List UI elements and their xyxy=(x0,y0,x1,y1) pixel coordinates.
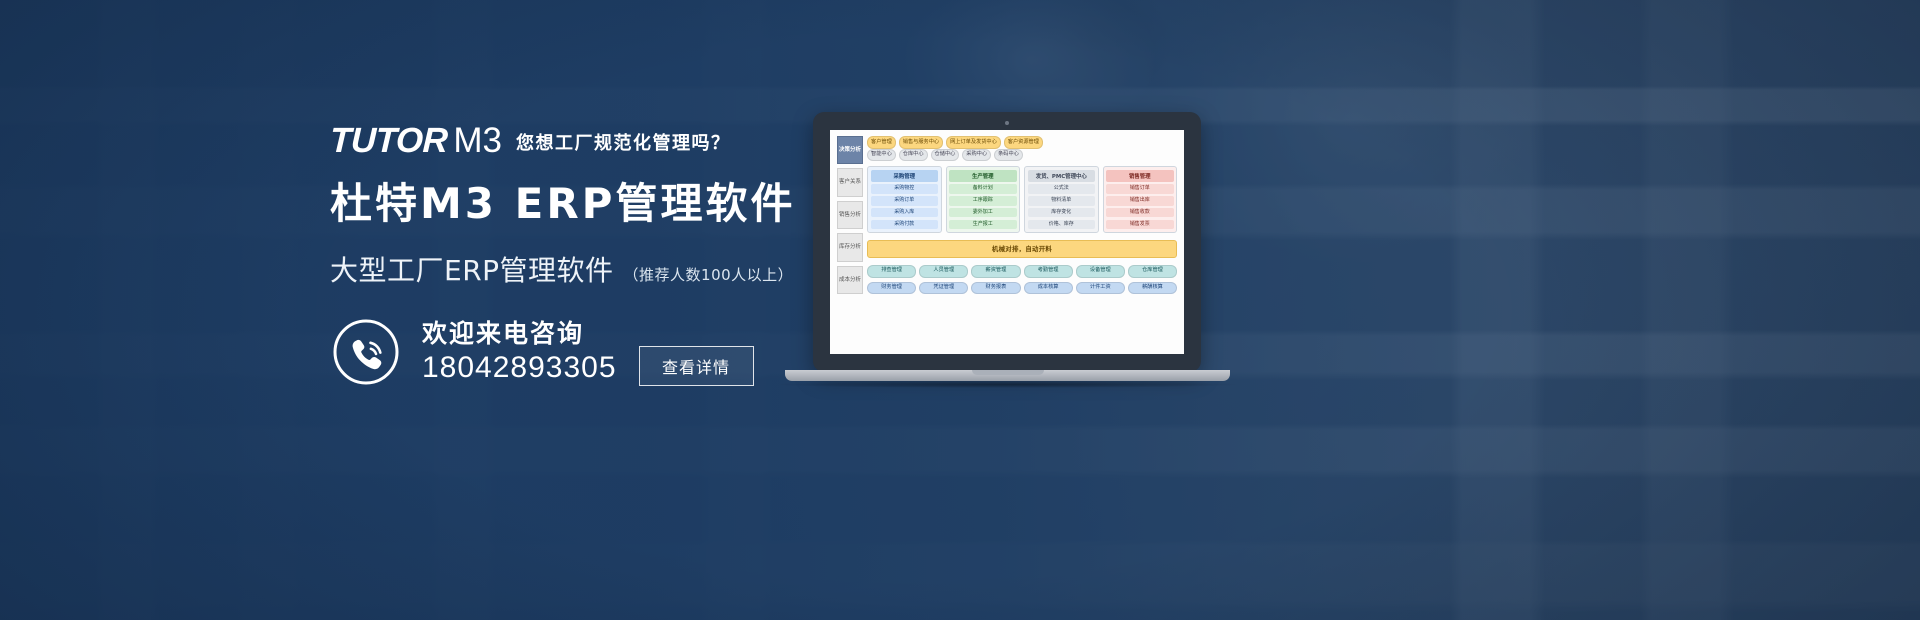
erp-column-item-2-1[interactable]: 物料清单 xyxy=(1028,196,1096,205)
erp-bottom-chip-1-1[interactable]: 凭证管理 xyxy=(919,282,968,295)
brand-tagline: 您想工厂规范化管理吗？ xyxy=(516,129,731,158)
logo-text-m3: M3 xyxy=(453,123,502,158)
erp-column-item-2-2[interactable]: 库存变化 xyxy=(1028,208,1096,217)
hero-subtitle: 大型工厂ERP管理软件 （推荐人数100人以上） xyxy=(330,249,850,289)
erp-top-row-1: 智能中心仓库中心仓储中心采购中心条码中心 xyxy=(867,149,1177,162)
erp-column-item-3-2[interactable]: 销售收款 xyxy=(1106,208,1174,217)
erp-chip-1-2[interactable]: 仓储中心 xyxy=(931,149,960,162)
erp-bottom-chip-0-4[interactable]: 设备管理 xyxy=(1076,265,1125,278)
erp-bottom-rows: 排查管理人员管理薪资管理考勤管理设备管理仓库管理财务管理凭证管理财务报表成本核算… xyxy=(867,261,1177,294)
erp-column-item-3-0[interactable]: 销售订单 xyxy=(1106,184,1174,193)
erp-column-item-1-1[interactable]: 工序跟踪 xyxy=(949,196,1017,205)
laptop-trackpad-notch xyxy=(972,370,1044,375)
logo-text-tutor: TUTOR xyxy=(329,123,448,158)
erp-chip-1-0[interactable]: 智能中心 xyxy=(867,149,896,162)
laptop-lid: 决策分析客户关系销售分析库存分析成本分析 客户管理销售与服务中心网上订单及发货中… xyxy=(813,112,1201,372)
erp-bottom-chip-0-1[interactable]: 人员管理 xyxy=(919,265,968,278)
page-title: 杜特M3 ERP管理软件 xyxy=(330,180,850,227)
erp-chip-0-2[interactable]: 网上订单及发货中心 xyxy=(946,136,1001,149)
erp-highlight-banner: 机械对排，自动开料 xyxy=(867,240,1177,258)
erp-side-cell-1[interactable]: 客户关系 xyxy=(837,168,863,196)
erp-side-rail: 决策分析客户关系销售分析库存分析成本分析 xyxy=(837,136,863,294)
erp-column-head-2: 发货、PMC管理中心 xyxy=(1028,170,1096,182)
erp-bottom-chip-1-3[interactable]: 成本核算 xyxy=(1024,282,1073,295)
erp-bottom-chip-0-0[interactable]: 排查管理 xyxy=(867,265,916,278)
laptop-mockup: 决策分析客户关系销售分析库存分析成本分析 客户管理销售与服务中心网上订单及发货中… xyxy=(785,112,1230,397)
erp-column-item-1-2[interactable]: 委外加工 xyxy=(949,208,1017,217)
erp-column-item-0-2[interactable]: 采购入库 xyxy=(871,208,939,217)
erp-architecture-diagram: 决策分析客户关系销售分析库存分析成本分析 客户管理销售与服务中心网上订单及发货中… xyxy=(830,130,1184,354)
contact-title: 欢迎来电咨询 xyxy=(422,320,617,349)
erp-chip-1-4[interactable]: 条码中心 xyxy=(994,149,1023,162)
erp-bottom-chip-1-5[interactable]: 薪酬核算 xyxy=(1128,282,1177,295)
hero-subtitle-note: （推荐人数100人以上） xyxy=(624,264,794,285)
erp-chip-0-3[interactable]: 客户资源管理 xyxy=(1004,136,1043,149)
phone-ring-icon xyxy=(332,318,400,386)
erp-column-2: 发货、PMC管理中心公式法物料清单库存变化价格、库存 xyxy=(1024,166,1099,232)
erp-column-head-3: 销售管理 xyxy=(1106,170,1174,182)
erp-bottom-chip-1-4[interactable]: 计件工资 xyxy=(1076,282,1125,295)
laptop-screen: 决策分析客户关系销售分析库存分析成本分析 客户管理销售与服务中心网上订单及发货中… xyxy=(830,130,1184,354)
erp-column-item-2-3[interactable]: 价格、库存 xyxy=(1028,220,1096,229)
laptop-camera-icon xyxy=(1005,121,1009,125)
erp-chip-1-3[interactable]: 采购中心 xyxy=(962,149,991,162)
erp-chip-0-1[interactable]: 销售与服务中心 xyxy=(899,136,943,149)
brand-logo: TUTOR M3 xyxy=(330,123,502,158)
erp-column-3: 销售管理销售订单销售出库销售收款销售发票 xyxy=(1103,166,1178,232)
erp-side-cell-3[interactable]: 库存分析 xyxy=(837,233,863,261)
erp-column-head-0: 采购管理 xyxy=(871,170,939,182)
erp-bottom-chip-0-2[interactable]: 薪资管理 xyxy=(971,265,1020,278)
erp-side-cell-0[interactable]: 决策分析 xyxy=(837,136,863,164)
hero-copy-block: TUTOR M3 您想工厂规范化管理吗？ 杜特M3 ERP管理软件 大型工厂ER… xyxy=(330,118,850,289)
erp-column-item-0-1[interactable]: 采购订单 xyxy=(871,196,939,205)
erp-column-item-1-0[interactable]: 备料计划 xyxy=(949,184,1017,193)
erp-bottom-chip-0-5[interactable]: 仓库管理 xyxy=(1128,265,1177,278)
erp-body: 决策分析客户关系销售分析库存分析成本分析 客户管理销售与服务中心网上订单及发货中… xyxy=(837,136,1177,294)
erp-column-0: 采购管理采购物控采购订单采购入库采购付款 xyxy=(867,166,942,232)
erp-module-columns: 采购管理采购物控采购订单采购入库采购付款生产管理备料计划工序跟踪委外加工生产报工… xyxy=(867,166,1177,232)
erp-column-1: 生产管理备料计划工序跟踪委外加工生产报工 xyxy=(946,166,1021,232)
brand-line: TUTOR M3 您想工厂规范化管理吗？ xyxy=(330,118,850,158)
hero-subtitle-main: 大型工厂ERP管理软件 xyxy=(330,249,614,289)
contact-text: 欢迎来电咨询 18042893305 xyxy=(422,320,617,384)
erp-column-item-0-0[interactable]: 采购物控 xyxy=(871,184,939,193)
laptop-shadow xyxy=(779,381,1236,388)
erp-chip-1-1[interactable]: 仓库中心 xyxy=(899,149,928,162)
erp-chip-0-0[interactable]: 客户管理 xyxy=(867,136,896,149)
erp-column-head-1: 生产管理 xyxy=(949,170,1017,182)
erp-bottom-chip-0-3[interactable]: 考勤管理 xyxy=(1024,265,1073,278)
erp-side-cell-2[interactable]: 销售分析 xyxy=(837,201,863,229)
erp-top-row-0: 客户管理销售与服务中心网上订单及发货中心客户资源管理 xyxy=(867,136,1177,149)
erp-main-area: 客户管理销售与服务中心网上订单及发货中心客户资源管理智能中心仓库中心仓储中心采购… xyxy=(867,136,1177,294)
erp-bottom-chip-1-2[interactable]: 财务报表 xyxy=(971,282,1020,295)
erp-column-item-0-3[interactable]: 采购付款 xyxy=(871,220,939,229)
view-details-button[interactable]: 查看详情 xyxy=(639,346,754,386)
erp-column-item-3-3[interactable]: 销售发票 xyxy=(1106,220,1174,229)
erp-column-item-2-0[interactable]: 公式法 xyxy=(1028,184,1096,193)
contact-block: 欢迎来电咨询 18042893305 查看详情 xyxy=(332,318,754,386)
erp-top-rows: 客户管理销售与服务中心网上订单及发货中心客户资源管理智能中心仓库中心仓储中心采购… xyxy=(867,136,1177,161)
erp-bottom-chip-1-0[interactable]: 财务管理 xyxy=(867,282,916,295)
erp-bottom-row-0: 排查管理人员管理薪资管理考勤管理设备管理仓库管理 xyxy=(867,265,1177,278)
erp-side-cell-4[interactable]: 成本分析 xyxy=(837,266,863,294)
erp-column-item-1-3[interactable]: 生产报工 xyxy=(949,220,1017,229)
contact-phone-number: 18042893305 xyxy=(422,351,617,384)
erp-bottom-row-1: 财务管理凭证管理财务报表成本核算计件工资薪酬核算 xyxy=(867,282,1177,295)
erp-column-item-3-1[interactable]: 销售出库 xyxy=(1106,196,1174,205)
